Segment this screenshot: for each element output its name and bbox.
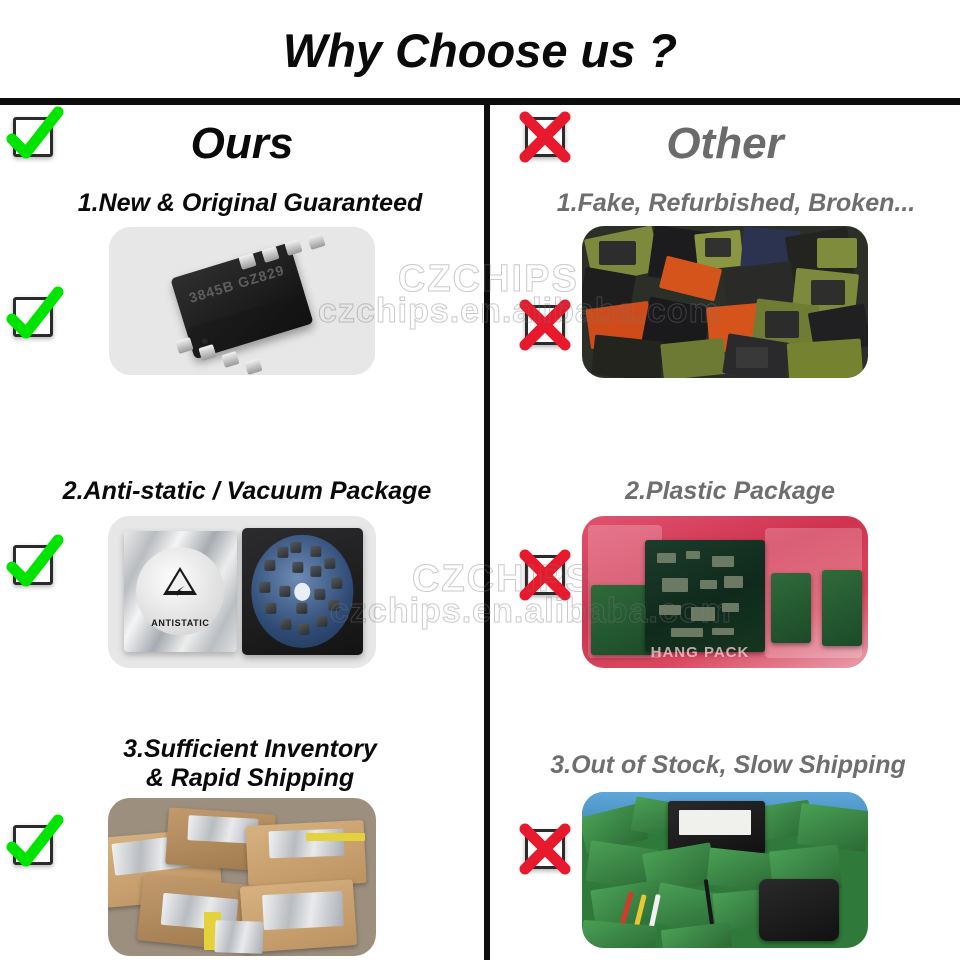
antistatic-bag-and-reel-photo: ⚡ ANTISTATIC xyxy=(108,516,376,668)
header-divider xyxy=(0,98,960,105)
cross-icon-row-2 xyxy=(518,548,572,602)
row-1-label-other: 1.Fake, Refurbished, Broken... xyxy=(490,183,960,218)
column-divider xyxy=(484,105,490,960)
cross-icon-row-3 xyxy=(518,822,572,876)
row-1-ours: 1.New & Original Guaranteed 3845B GZ829 xyxy=(0,183,484,475)
ic-chip-photo: 3845B GZ829 xyxy=(109,227,375,375)
title-bar: Why Choose us ? xyxy=(0,0,960,100)
cross-glyph xyxy=(518,548,572,602)
cross-icon-row-1 xyxy=(518,298,572,352)
comparison-grid: Ours 1.New & Original Guaranteed 3845B G… xyxy=(0,105,960,960)
row-3-ours: 3.Sufficient Inventory & Rapid Shipping xyxy=(0,725,484,980)
row-1-label-ours: 1.New & Original Guaranteed xyxy=(0,183,484,218)
check-glyph xyxy=(6,538,60,592)
check-icon-row-1 xyxy=(6,290,60,344)
cross-icon-header-other xyxy=(518,110,572,164)
antistatic-label: ANTISTATIC xyxy=(124,618,237,628)
row-3-label-other: 3.Out of Stock, Slow Shipping xyxy=(490,725,960,780)
scrap-cpu-pile-photo xyxy=(582,226,868,378)
cross-glyph xyxy=(518,822,572,876)
cross-glyph xyxy=(518,110,572,164)
check-glyph xyxy=(6,110,60,164)
row-2-label-ours: 2.Anti-static / Vacuum Package xyxy=(0,475,484,506)
row-2-label-other: 2.Plastic Package xyxy=(490,475,960,506)
green-pcb-scrap-photo xyxy=(582,792,868,948)
page-title: Why Choose us ? xyxy=(283,23,677,78)
cross-glyph xyxy=(518,298,572,352)
inventory-boxes-photo xyxy=(108,798,376,956)
check-icon-row-3 xyxy=(6,818,60,872)
check-icon-header-ours xyxy=(6,110,60,164)
pack-watermark-text: HANG PACK xyxy=(651,644,750,661)
column-header-label-other: Other xyxy=(666,119,783,169)
column-header-ours: Ours xyxy=(0,105,484,183)
column-header-label-ours: Ours xyxy=(191,119,294,169)
check-icon-row-2 xyxy=(6,538,60,592)
check-glyph xyxy=(6,290,60,344)
check-glyph xyxy=(6,818,60,872)
column-ours: Ours 1.New & Original Guaranteed 3845B G… xyxy=(0,105,484,960)
plastic-bag-pcb-photo: HANG PACK xyxy=(582,516,868,668)
why-choose-us-infographic: Why Choose us ? Ours 1.New & Original Gu… xyxy=(0,0,960,960)
row-3-label-ours: 3.Sufficient Inventory & Rapid Shipping xyxy=(0,725,484,792)
row-2-ours: 2.Anti-static / Vacuum Package ⚡ ANTISTA… xyxy=(0,475,484,725)
